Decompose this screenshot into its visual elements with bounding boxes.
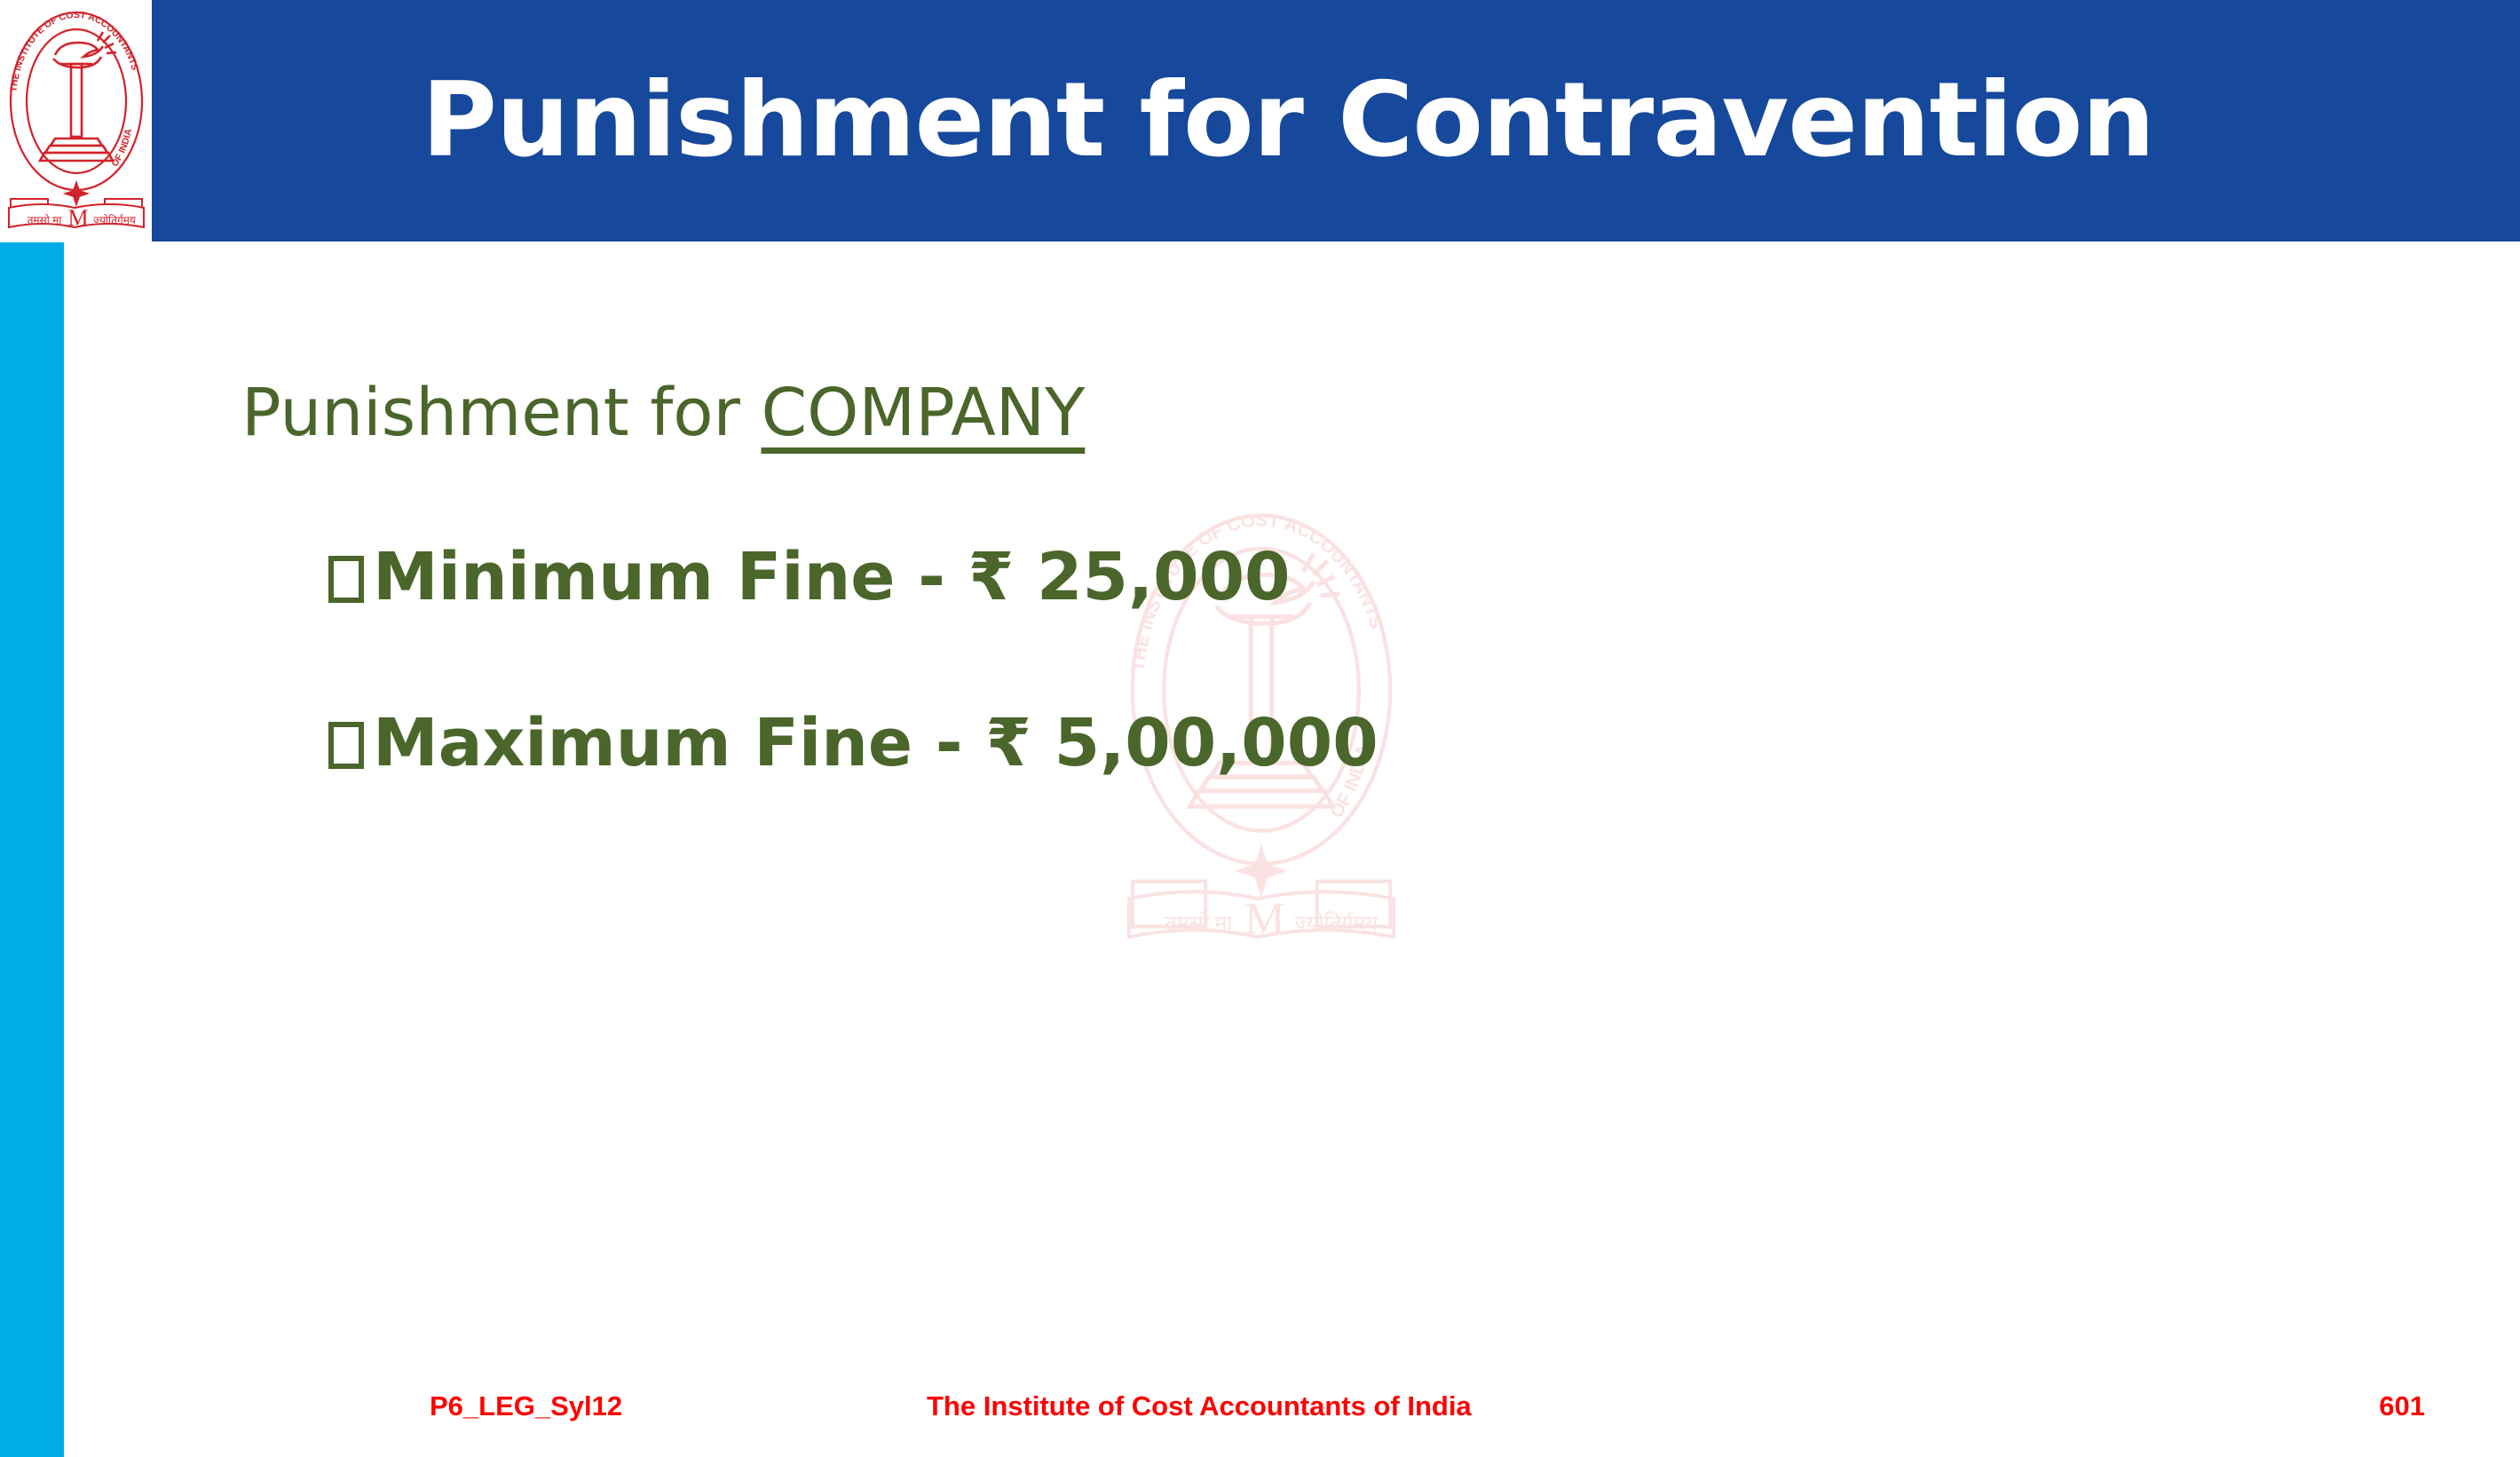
svg-text:M: M — [67, 205, 88, 231]
body-heading-emphasis: COMPANY — [761, 375, 1085, 451]
page-title: Punishment for Contravention — [152, 0, 2424, 242]
body-heading: Punishment for COMPANY — [241, 380, 1085, 446]
footer-subject-code: P6_LEG_Syl12 — [430, 1392, 622, 1420]
svg-text:तमसो मा: तमसो मा — [27, 214, 62, 226]
slide-body: Punishment for COMPANY Minimum Fine - ₹ … — [0, 242, 2520, 1397]
svg-text:ज्योतिर्गमय: ज्योतिर्गमय — [93, 214, 137, 226]
footer-page-number: 601 — [2036, 1392, 2425, 1420]
hollow-square-bullet-icon — [328, 556, 364, 603]
bullet-item-maximum-fine: Maximum Fine - ₹ 5,00,000 — [328, 710, 1378, 776]
bullet-item-label: Minimum Fine - ₹ 25,000 — [373, 539, 1291, 615]
institute-logo-icon: THE INSTITUTE OF COST ACCOUNTANTS OF IND… — [5, 5, 147, 236]
footer-organisation: The Institute of Cost Accountants of Ind… — [927, 1392, 1472, 1420]
institute-logo: THE INSTITUTE OF COST ACCOUNTANTS OF IND… — [0, 0, 152, 242]
bullet-item-label: Maximum Fine - ₹ 5,00,000 — [373, 705, 1378, 781]
body-heading-prefix: Punishment for — [241, 375, 761, 451]
bullet-item-minimum-fine: Minimum Fine - ₹ 25,000 — [328, 544, 1291, 610]
hollow-square-bullet-icon — [328, 722, 364, 769]
presentation-slide: Punishment for Contravention — [0, 0, 2520, 1457]
